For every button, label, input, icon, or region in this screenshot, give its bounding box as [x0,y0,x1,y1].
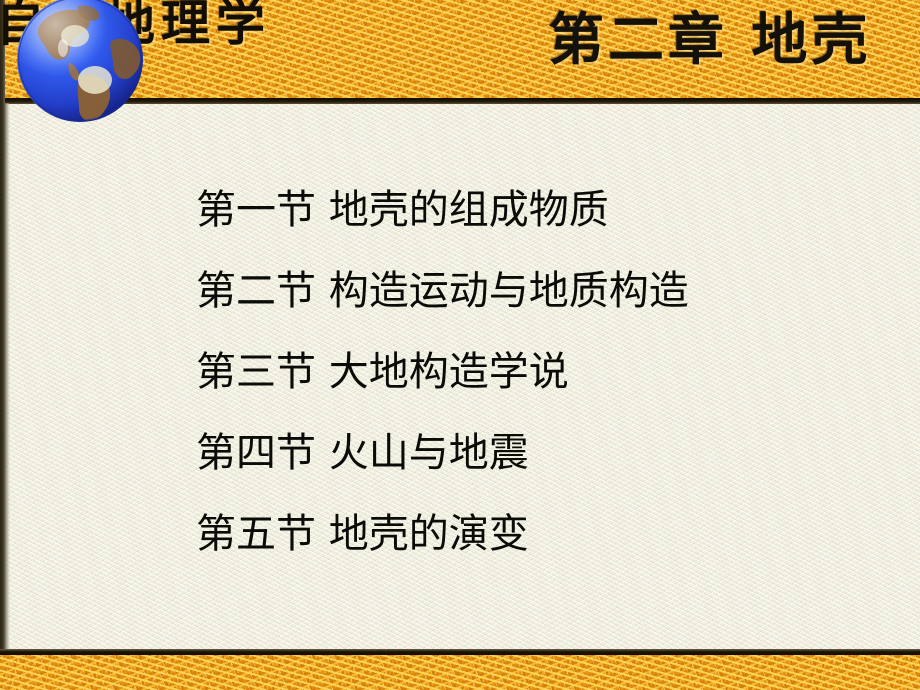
list-item-section-5[interactable]: 第五节 地壳的演变 [196,494,896,575]
list-item-section-3[interactable]: 第三节 大地构造学说 [196,332,896,413]
header-divider-rule [0,98,920,104]
chapter-title: 第二章 地壳 [548,9,872,73]
list-item-section-1[interactable]: 第一节 地壳的组成物质 [196,170,896,251]
slide-canvas: 自然地理学 第二章 地壳 [0,0,920,690]
left-border-shadow [5,103,10,651]
footer-band [0,655,920,690]
list-item-section-4[interactable]: 第四节 火山与地震 [196,413,896,494]
globe-icon [17,0,143,122]
list-item-section-2[interactable]: 第二节 构造运动与地质构造 [196,251,896,332]
section-list: 第一节 地壳的组成物质 第二节 构造运动与地质构造 第三节 大地构造学说 第四节… [196,170,896,575]
